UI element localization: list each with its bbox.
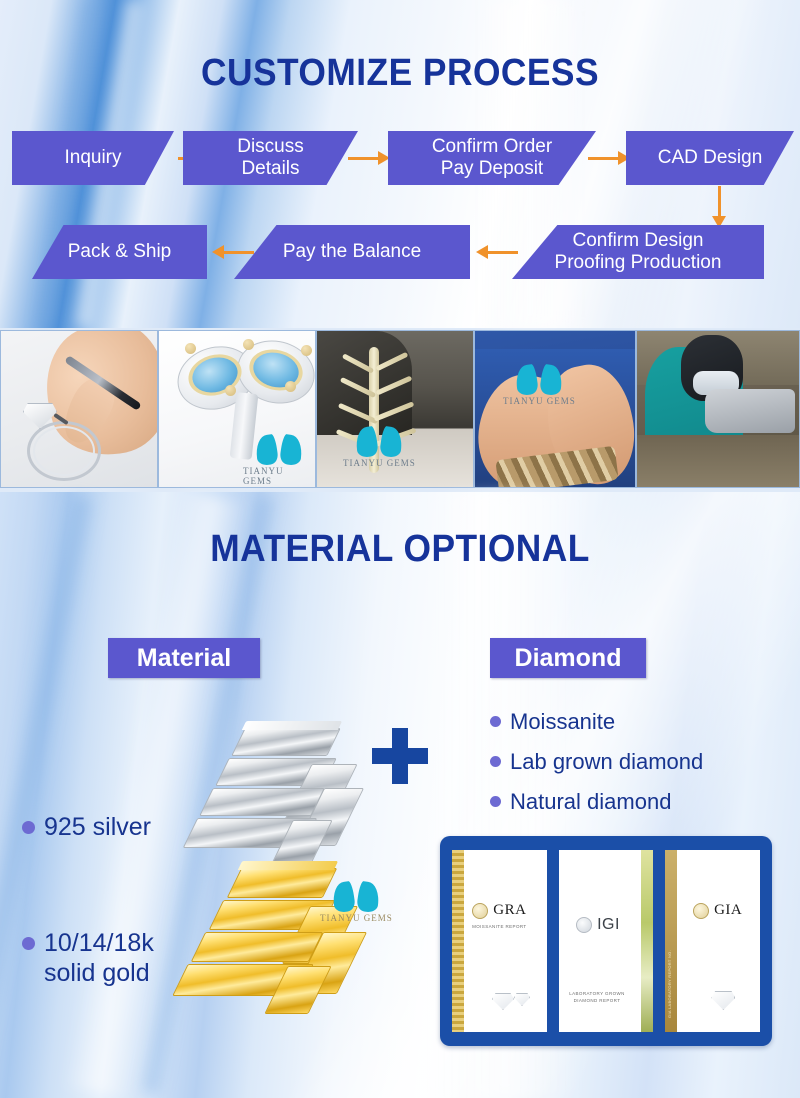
silver-bars-stack [186, 724, 386, 864]
diamond-list-item: Lab grown diamond [490, 748, 703, 775]
prong [225, 385, 236, 396]
silver-bar [231, 728, 341, 756]
flow-step-label: Discuss Details [237, 136, 304, 180]
certificate-subtitle: MOISSANITE REPORT [472, 923, 526, 930]
watermark-label: TIANYU GEMS [343, 458, 416, 468]
diamond-list-item: Natural diamond [490, 788, 671, 815]
gold-bar [227, 868, 338, 898]
bullet-dot [22, 937, 35, 950]
certificate-logo: IGI [576, 916, 620, 934]
certificate-edge [641, 850, 653, 1032]
diamond-list-item: Moissanite [490, 708, 615, 735]
gold-bar-top [238, 861, 338, 870]
arrow-confirm-design-to-pay-balance [476, 243, 518, 261]
watermark-label: TIANYU GEMS [243, 466, 315, 486]
certificate-vertical-text: GIA LABORATORY REPORT NO. [667, 950, 672, 1018]
prong [243, 339, 254, 350]
certificate-igi: IGI LABORATORY GROWN DIAMOND REPORT [559, 850, 654, 1032]
flow-step-label: Pay the Balance [283, 241, 421, 263]
infographic-page: CUSTOMIZE PROCESS Inquiry Discuss Detail… [0, 0, 800, 1098]
arrow-pay-balance-to-pack-ship [212, 243, 254, 261]
gem-illustration [514, 993, 530, 1006]
photo-jeweler-at-bench [636, 330, 800, 488]
material-item-label: 925 silver [44, 812, 151, 842]
arrow-cad-to-confirm-design [710, 186, 728, 228]
seal-icon [472, 903, 488, 919]
certificate-logo: GRA [472, 902, 526, 919]
seal-icon [693, 903, 709, 919]
butterfly-icon [256, 435, 302, 465]
process-photo-strip: TIANYU GEMS TIANYU GEMS [0, 330, 800, 488]
prong [185, 343, 196, 354]
diamond-item-label: Lab grown diamond [510, 748, 703, 775]
prong [301, 345, 312, 356]
certificate-name: GIA [714, 902, 742, 919]
certificate-name: IGI [597, 916, 620, 934]
certificate-name: GRA [493, 902, 526, 919]
material-item-label: 10/14/18k solid gold [44, 928, 154, 988]
gem-illustration [711, 991, 735, 1010]
heading-diamond: Diamond [490, 638, 646, 678]
bullet-dot [490, 716, 501, 727]
certificate-gra: GRA MOISSANITE REPORT [452, 850, 547, 1032]
flow-step-label: Confirm Order Pay Deposit [432, 136, 552, 180]
flow-step-label: Pack & Ship [68, 241, 172, 263]
gem-illustration [492, 993, 514, 1010]
certificate-logo: GIA [693, 902, 742, 919]
diamond-item-label: Moissanite [510, 708, 615, 735]
photo-cad-rendering: TIANYU GEMS [158, 330, 316, 488]
arrow-confirm-order-to-cad [588, 149, 630, 167]
certificate-panel: GRA MOISSANITE REPORT IGI LABORATORY GRO… [440, 836, 772, 1046]
certificate-gia: GIA LABORATORY REPORT NO. GIA [665, 850, 760, 1032]
heading-diamond-label: Diamond [515, 644, 622, 673]
bullet-dot [490, 796, 501, 807]
page-title-customize-process: CUSTOMIZE PROCESS [28, 50, 772, 96]
material-list-item: 925 silver [22, 812, 151, 842]
flow-step-label: Confirm Design Proofing Production [555, 230, 722, 274]
watermark-tianyu-gems: TIANYU GEMS [243, 435, 315, 486]
silver-bar [199, 788, 325, 816]
photo-hand-sketching-ring [0, 330, 158, 488]
heading-material-label: Material [137, 644, 231, 673]
heading-material: Material [108, 638, 260, 678]
flow-step-label: Inquiry [64, 147, 121, 169]
photo-stone-setting-hands: TIANYU GEMS [474, 330, 636, 488]
bullet-dot [490, 756, 501, 767]
gold-bars-stack: TIANYU GEMS [168, 866, 398, 1016]
flow-step-label: CAD Design [658, 147, 763, 169]
certificate-edge [452, 850, 464, 1032]
bench-machine [705, 389, 795, 433]
workbench [637, 435, 799, 487]
seal-icon [576, 917, 592, 933]
ring-band-inner-sketch [33, 426, 95, 476]
arrow-discuss-to-confirm-order [348, 149, 390, 167]
gold-bar [191, 932, 324, 962]
diamond-item-label: Natural diamond [510, 788, 671, 815]
silver-bar-top [242, 721, 342, 730]
certificate-subtitle: LABORATORY GROWN DIAMOND REPORT [559, 990, 654, 1004]
bullet-dot [22, 821, 35, 834]
page-title-material-optional: MATERIAL OPTIONAL [28, 526, 772, 572]
prong [285, 381, 296, 392]
photo-wax-casting-tree: TIANYU GEMS [316, 330, 474, 488]
material-list-item: 10/14/18k solid gold [22, 928, 154, 988]
